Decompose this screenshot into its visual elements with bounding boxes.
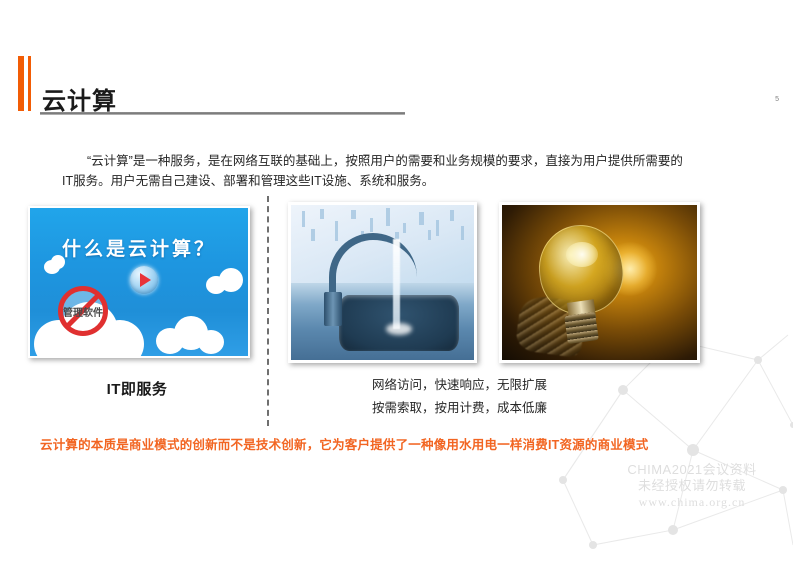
title-accent-bar-thin bbox=[28, 56, 31, 111]
cloud-shape-right bbox=[206, 268, 246, 294]
water-splash bbox=[386, 323, 412, 335]
page-number: 5 bbox=[775, 96, 779, 103]
watermark-url: www.chima.org.cn bbox=[607, 495, 777, 510]
title-underline-rule bbox=[40, 112, 405, 115]
cloud-shape-small-b bbox=[51, 255, 65, 269]
lightbulb-photo bbox=[499, 202, 700, 363]
vertical-dashed-divider bbox=[267, 196, 269, 426]
right-caption-block: 网络访问，快速响应，无限扩展 按需索取，按用计费，成本低廉 bbox=[372, 374, 547, 420]
watermark-line-1: CHIMA2021会议资料 bbox=[607, 462, 777, 478]
cloud-shape-bottom bbox=[156, 314, 226, 354]
watermark-line-2: 未经授权请勿转载 bbox=[607, 478, 777, 494]
prohibition-label: 管理软件 bbox=[52, 304, 114, 319]
conclusion-statement: 云计算的本质是商业模式的创新而不是技术创新，它为客户提供了一种像用水用电一样消费… bbox=[40, 434, 765, 453]
watermark: CHIMA2021会议资料 未经授权请勿转载 www.chima.org.cn bbox=[607, 462, 777, 510]
left-caption: IT即服务 bbox=[28, 378, 246, 399]
lightbulb-screw-base bbox=[565, 311, 600, 343]
page-title: 云计算 bbox=[42, 90, 117, 114]
lightbulb-filament bbox=[566, 242, 597, 267]
right-caption-line-2: 按需索取，按用计费，成本低廉 bbox=[372, 397, 547, 420]
water-stream bbox=[393, 239, 400, 329]
faucet-base bbox=[324, 292, 342, 326]
play-icon[interactable] bbox=[130, 266, 158, 294]
title-accent-bar-thick bbox=[18, 56, 24, 111]
cloud-video-thumbnail[interactable]: 什么是云计算？ 管理软件 bbox=[28, 206, 250, 358]
right-caption-line-1: 网络访问，快速响应，无限扩展 bbox=[372, 374, 547, 397]
faucet-sink-photo bbox=[288, 202, 477, 363]
body-paragraph: “云计算”是一种服务，是在网络互联的基础上，按照用户的需要和业务规模的要求，直接… bbox=[62, 151, 692, 192]
